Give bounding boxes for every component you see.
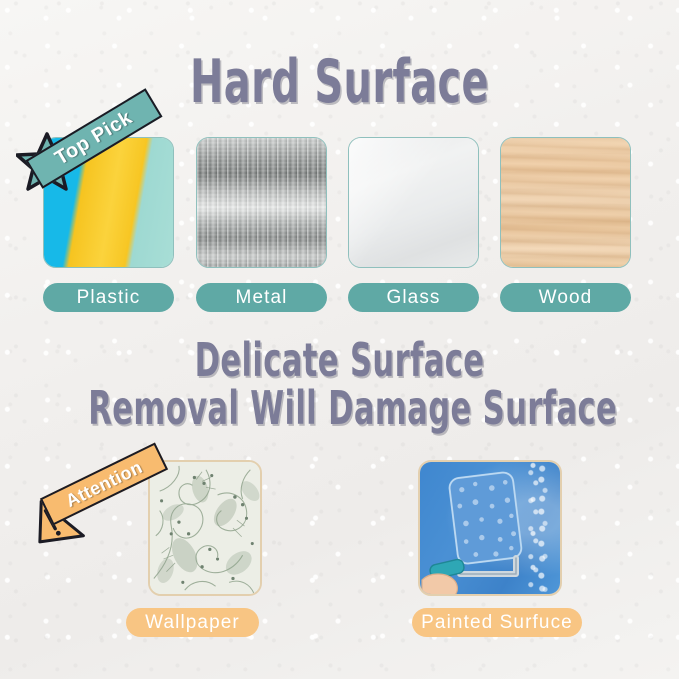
metal-swatch bbox=[196, 137, 327, 268]
metal-label: Metal bbox=[196, 283, 327, 312]
plastic-label: Plastic bbox=[43, 283, 174, 312]
painted-surface-texture bbox=[420, 462, 560, 594]
painted-surface-swatch bbox=[418, 460, 562, 596]
delicate-surface-title-line2: Removal Will Damage Surface bbox=[88, 385, 590, 431]
wood-label: Wood bbox=[500, 283, 631, 312]
attention-badge: Attention bbox=[28, 447, 178, 552]
glass-swatch bbox=[348, 137, 479, 268]
wallpaper-label: Wallpaper bbox=[126, 608, 259, 637]
top-pick-badge: Top Pick bbox=[16, 92, 166, 197]
attention-ribbon-label: Attention bbox=[40, 442, 168, 525]
wood-swatch bbox=[500, 137, 631, 268]
delicate-surface-title-line1: Delicate Surface bbox=[88, 337, 590, 383]
glass-texture bbox=[349, 138, 478, 267]
glass-label: Glass bbox=[348, 283, 479, 312]
infographic-page: Hard Surface Plastic Metal Glass Wood To… bbox=[0, 0, 679, 679]
paint-roller-icon bbox=[420, 462, 562, 596]
wood-texture bbox=[501, 138, 630, 267]
painted-surface-label: Painted Surfuce bbox=[412, 608, 582, 637]
metal-texture bbox=[197, 138, 326, 267]
